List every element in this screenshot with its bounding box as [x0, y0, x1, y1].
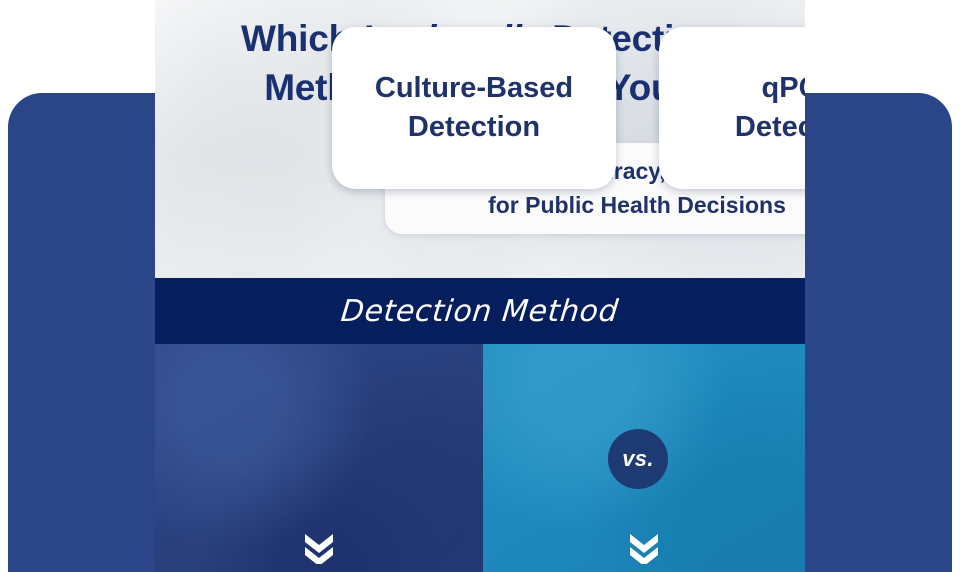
- section-band-detection-method: Detection Method: [155, 278, 805, 344]
- double-chevron-down-icon-right: [621, 530, 667, 564]
- method-card-qpcr[interactable]: qPCR Detection: [659, 27, 805, 189]
- method-card-qpcr-line2: Detection: [735, 111, 805, 143]
- infographic-root: Which Legionella Detection Method is Rig…: [0, 0, 960, 572]
- content-column: Which Legionella Detection Method is Rig…: [155, 0, 805, 572]
- subtitle-line2: for Public Health Decisions: [488, 192, 786, 218]
- method-card-culture-based-label: Culture-Based Detection: [359, 69, 589, 148]
- comparison-area: [155, 344, 805, 572]
- method-card-culture-based[interactable]: Culture-Based Detection: [332, 27, 616, 189]
- method-card-qpcr-label: qPCR Detection: [719, 69, 805, 148]
- method-card-culture-based-line2: Detection: [408, 111, 540, 143]
- vs-badge-label: vs.: [622, 446, 653, 472]
- section-band-label: Detection Method: [339, 294, 620, 329]
- method-card-qpcr-line1: qPCR: [762, 72, 805, 104]
- method-card-culture-based-line1: Culture-Based: [375, 72, 573, 104]
- double-chevron-down-icon-left: [296, 530, 342, 564]
- vs-badge: vs.: [608, 429, 668, 489]
